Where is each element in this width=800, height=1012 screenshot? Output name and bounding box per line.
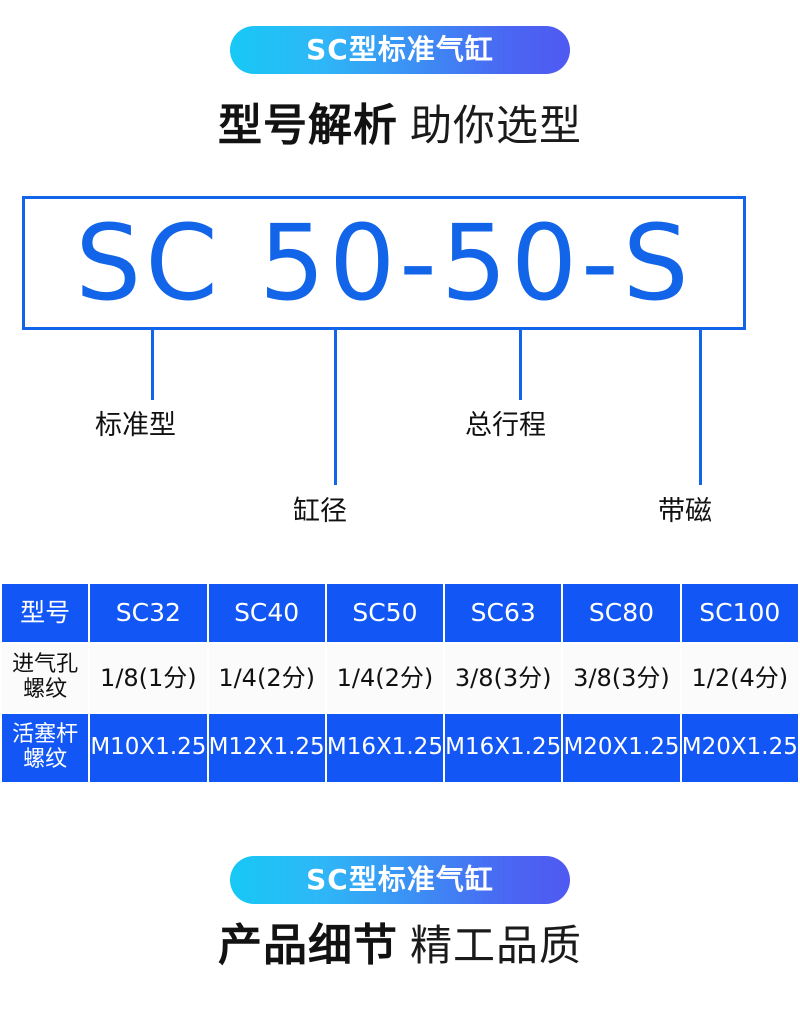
leader-line-bore-diameter	[334, 330, 337, 485]
table-header-sc40: SC40	[209, 584, 325, 642]
callout-standard-type: 标准型	[95, 412, 176, 439]
callout-with-magnet-label: 带磁	[658, 496, 712, 527]
page-title-bottom: 产品细节精工品质	[0, 924, 800, 968]
callout-bore-diameter: 缸径	[293, 498, 347, 525]
banner-pill-bottom-label: SC型标准气缸	[306, 866, 494, 894]
row-label-line-2: 螺纹	[23, 677, 67, 702]
leader-line-total-stroke	[519, 330, 522, 400]
row-label-line-2: 螺纹	[23, 747, 67, 772]
table-row-piston-rod-thread: 活塞杆螺纹 M10X1.25 M12X1.25 M16X1.25 M16X1.2…	[2, 714, 798, 782]
cell-piston-sc80: M20X1.25	[563, 714, 679, 782]
cell-intake-sc50: 1/4(2分)	[327, 644, 443, 712]
table-row-intake-thread: 进气孔螺纹 1/8(1分) 1/4(2分) 1/4(2分) 3/8(3分) 3/…	[2, 644, 798, 712]
table-header-sc100: SC100	[682, 584, 798, 642]
cell-piston-sc32: M10X1.25	[90, 714, 206, 782]
cell-intake-sc80: 3/8(3分)	[563, 644, 679, 712]
cell-intake-sc100: 1/2(4分)	[682, 644, 798, 712]
callout-with-magnet: 带磁	[658, 498, 712, 525]
page-title-top-strong: 型号解析	[218, 100, 398, 151]
callout-total-stroke-label: 总行程	[465, 410, 546, 441]
table-row-header: 型号 SC32 SC40 SC50 SC63 SC80 SC100	[2, 584, 798, 642]
banner-pill-top: SC型标准气缸	[230, 26, 570, 74]
page-title-top-light: 助你选型	[410, 101, 582, 150]
model-code-box: SC 50-50-S	[22, 196, 746, 330]
cell-intake-sc32: 1/8(1分)	[90, 644, 206, 712]
cell-piston-sc50: M16X1.25	[327, 714, 443, 782]
banner-pill-top-label: SC型标准气缸	[306, 36, 494, 64]
page-title-top: 型号解析助你选型	[0, 104, 800, 148]
table-row-label-piston-rod-thread: 活塞杆螺纹	[2, 714, 88, 782]
row-label-line-1: 活塞杆	[12, 722, 78, 747]
leader-line-standard-type	[151, 330, 154, 400]
leader-line-with-magnet	[699, 330, 702, 485]
callout-standard-type-label: 标准型	[95, 410, 176, 441]
row-label-line-1: 进气孔	[12, 652, 78, 677]
table-header-sc32: SC32	[90, 584, 206, 642]
spec-table: 型号 SC32 SC40 SC50 SC63 SC80 SC100 进气孔螺纹 …	[0, 582, 800, 784]
table-row-label-intake-thread: 进气孔螺纹	[2, 644, 88, 712]
table-header-sc63: SC63	[445, 584, 561, 642]
cell-intake-sc63: 3/8(3分)	[445, 644, 561, 712]
cell-piston-sc100: M20X1.25	[682, 714, 798, 782]
cell-piston-sc63: M16X1.25	[445, 714, 561, 782]
callout-bore-diameter-label: 缸径	[293, 496, 347, 527]
banner-pill-bottom: SC型标准气缸	[230, 856, 570, 904]
table-header-sc80: SC80	[563, 584, 679, 642]
product-spec-infographic: SC型标准气缸 型号解析助你选型 SC 50-50-S 标准型 缸径 总行程 带…	[0, 0, 800, 1012]
page-title-bottom-strong: 产品细节	[218, 920, 398, 971]
callout-total-stroke: 总行程	[465, 412, 546, 439]
cell-intake-sc40: 1/4(2分)	[209, 644, 325, 712]
table-header-row-label: 型号	[2, 584, 88, 642]
model-code-text: SC 50-50-S	[75, 211, 692, 315]
cell-piston-sc40: M12X1.25	[209, 714, 325, 782]
table-header-sc50: SC50	[327, 584, 443, 642]
page-title-bottom-light: 精工品质	[410, 921, 582, 970]
